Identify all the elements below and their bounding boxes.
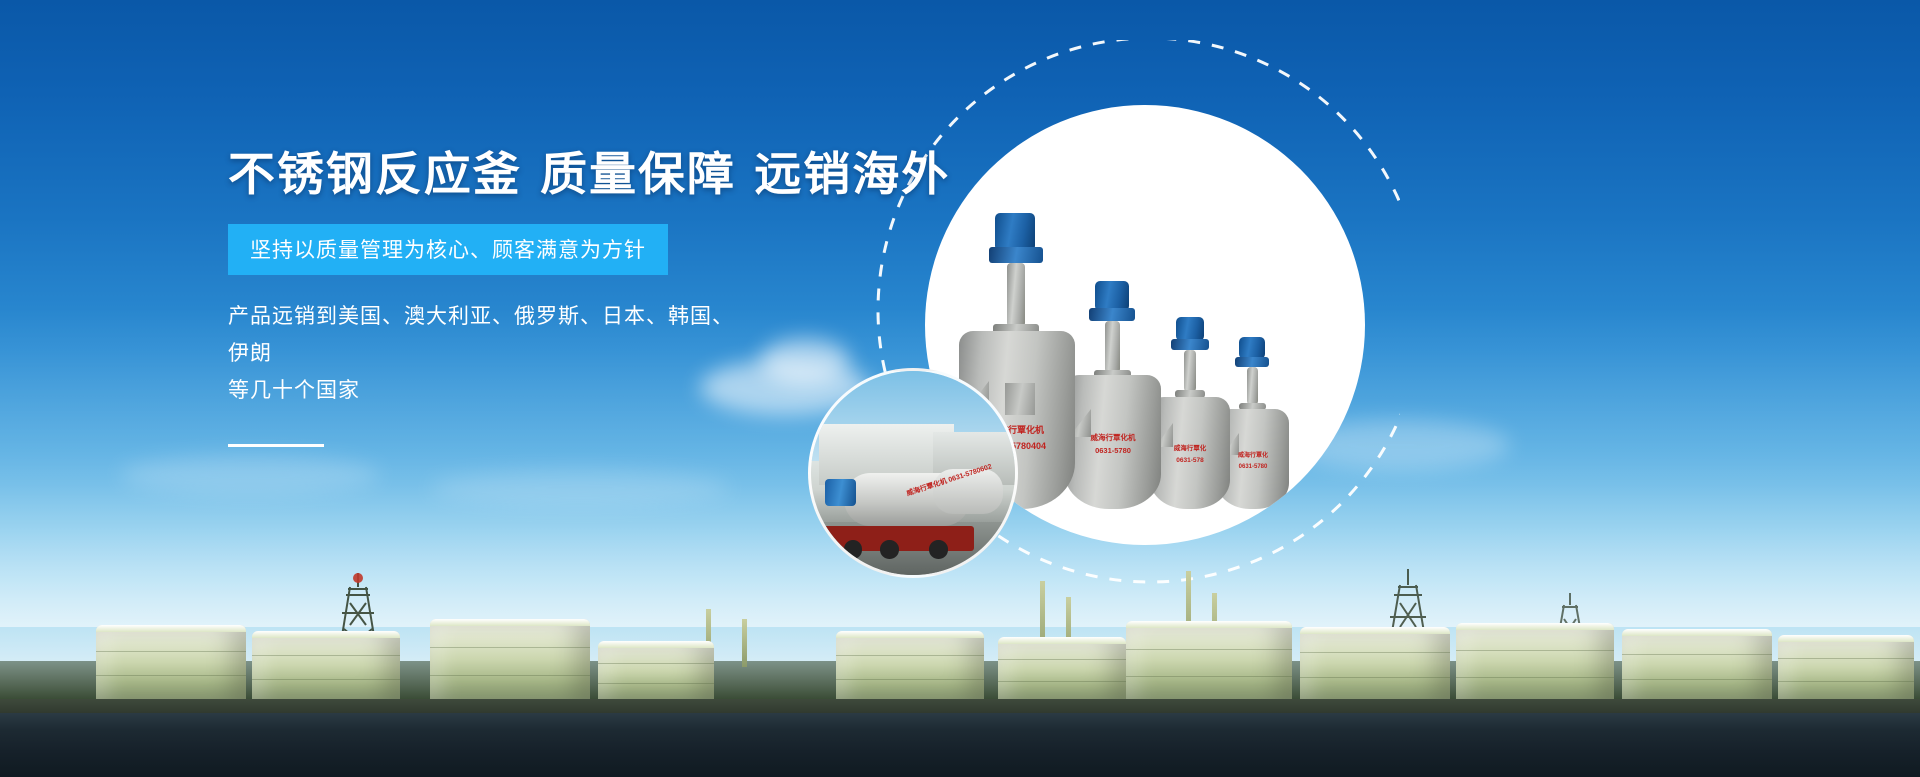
reactor-vessel: 威海行覃化机 0631-5780: [1065, 281, 1161, 509]
reactor-vessel: 威海行覃化 0631-578: [1150, 317, 1230, 509]
divider-rule: [228, 444, 324, 447]
vessel-phone-label: 0631-5780: [1065, 446, 1161, 455]
storage-tank: [1300, 627, 1450, 703]
storage-tank: [1622, 629, 1772, 703]
cloud-icon: [120, 455, 380, 495]
banner-copy: 不锈钢反应釜 质量保障 远销海外 坚持以质量管理为核心、顾客满意为方针 产品远销…: [228, 150, 868, 447]
tank-farm-scene: [0, 605, 1920, 777]
photo-wheel: [844, 540, 862, 558]
photo-motor: [825, 479, 856, 506]
photo-wheel: [880, 540, 898, 558]
vessel-phone-label: 0631-578: [1150, 457, 1230, 465]
description-line-1: 产品远销到美国、澳大利亚、俄罗斯、日本、韩国、伊朗: [228, 299, 748, 373]
vessel-brand-label: 威海行覃化机: [1065, 433, 1161, 442]
vessel-brand-label: 威海行覃化: [1150, 445, 1230, 453]
storage-tank: [96, 625, 246, 703]
chimney-stack: [742, 619, 747, 667]
page-title: 不锈钢反应釜 质量保障 远销海外: [228, 150, 881, 198]
description-line-2: 等几十个国家: [228, 373, 748, 410]
cloud-icon: [430, 470, 730, 506]
storage-tank: [836, 631, 984, 703]
storage-tank: [1126, 621, 1292, 703]
storage-tank: [598, 641, 714, 703]
hero-banner: 威海行覃化 0631-5780 威海行覃化 0631-578 威海行覃化机 06…: [0, 0, 1920, 777]
storage-tank: [430, 619, 590, 703]
subtitle-highlight-bar: 坚持以质量管理为核心、顾客满意为方针: [228, 224, 668, 275]
photo-wheel: [929, 540, 947, 558]
storage-tank: [1456, 623, 1614, 703]
storage-tank: [998, 637, 1126, 703]
description-paragraph: 产品远销到美国、澳大利亚、俄罗斯、日本、韩国、伊朗 等几十个国家: [228, 299, 748, 409]
storage-tank: [1778, 635, 1914, 703]
storage-tank: [252, 631, 400, 703]
subtitle-wrap: 坚持以质量管理为核心、顾客满意为方针: [228, 224, 868, 275]
water-foreground: [0, 713, 1920, 777]
